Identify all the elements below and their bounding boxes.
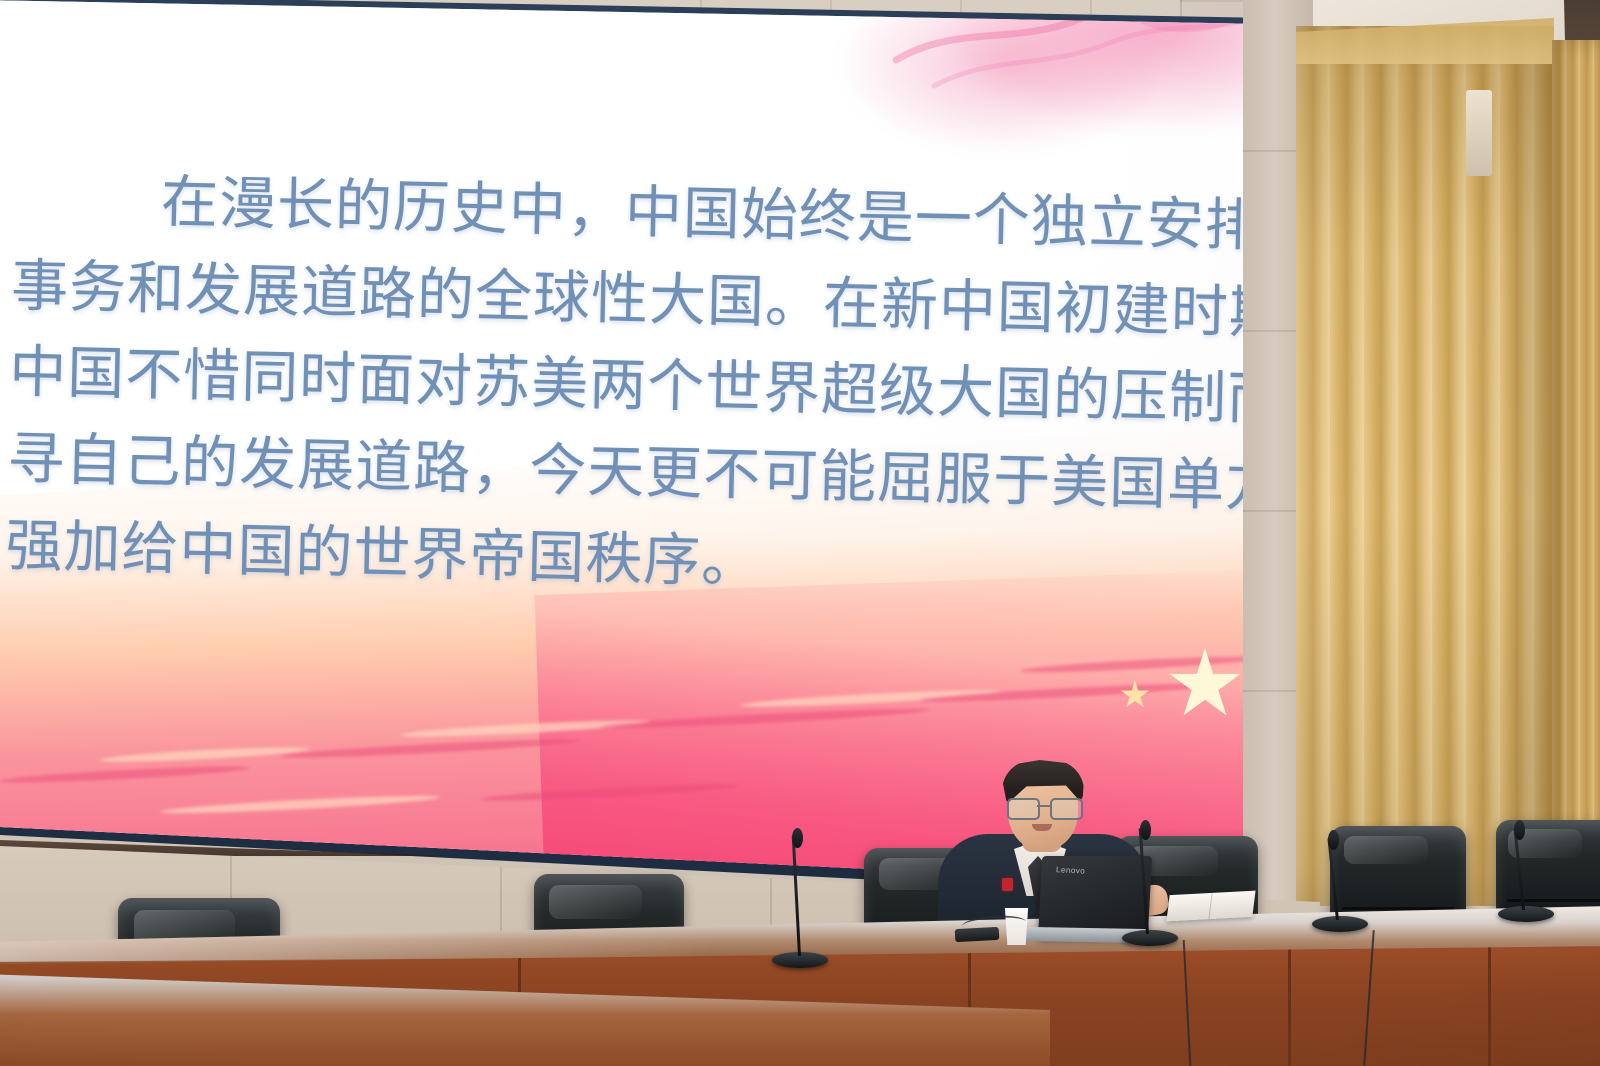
lapel-pin-icon [1002,878,1013,891]
microphone-head-4 [1514,820,1525,840]
microphone-head-1 [792,828,803,848]
chair-right-3 [1496,820,1600,914]
microphone-base-4 [1498,906,1554,922]
screenshot-stage: 在漫长的历史中，中国始终是一个独立安排自身 事务和发展道路的全球性大国。在新中国… [0,0,1600,1066]
laptop-brand-label: Lenovo [1056,865,1090,876]
microphone-base-3 [1312,916,1368,932]
slide-body-text: 在漫长的历史中，中国始终是一个独立安排自身 事务和发展道路的全球性大国。在新中国… [5,156,1224,615]
microphone-head-3 [1328,830,1339,850]
curtain-rail-bracket [1466,90,1492,176]
microphone-head-2 [1140,820,1151,840]
microphone-base-2 [1122,930,1178,946]
window-curtain [1296,26,1554,906]
open-notebook [1166,891,1255,922]
eyeglasses-icon [1006,798,1082,816]
window-curtain-right [1552,40,1600,900]
